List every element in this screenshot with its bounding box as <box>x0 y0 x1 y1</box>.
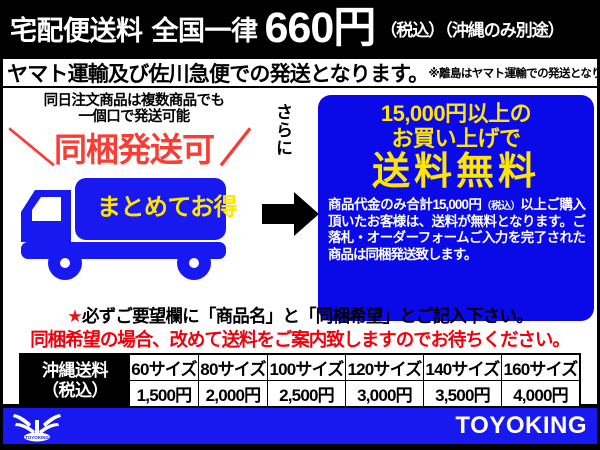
header-main-text: 宅配便送料 <box>10 9 143 48</box>
free-shipping-headline: 送料無料 <box>318 153 594 193</box>
truck-illustration: まとめてお得 <box>9 164 261 284</box>
price-cell-60: 1,500円 <box>130 381 199 408</box>
body-prefix: 商品代金のみ合計15,000円 <box>328 197 482 212</box>
price-cell-140: 3,500円 <box>423 381 501 408</box>
table-head-line2: （税込） <box>21 381 129 401</box>
brand-logo: TOYOKING <box>10 410 64 442</box>
carrier-main-text: ヤマト運輸及び佐川急便での発送となります。 <box>7 58 428 88</box>
truck-icon <box>9 164 261 284</box>
price-cell-100: 2,500円 <box>268 381 346 408</box>
right-arrow-icon <box>262 191 320 237</box>
bundle-note: 同梱希望の場合、改めて送料をご案内致しますのでお待ちください。 <box>3 326 597 352</box>
request-note: ★必ずご要望欄に「商品名」と「同梱希望」とご記入下さい。 <box>3 303 597 328</box>
bundle-head-line2: 一個口で発送可能 <box>3 110 265 126</box>
carrier-line: ヤマト運輸及び佐川急便での発送となります。 ※離島はヤマト運輸での発送となります… <box>3 59 597 88</box>
carrier-sub-text: ※離島はヤマト運輸での発送となります。 <box>428 65 600 81</box>
free-shipping-panel: 15,000円以上の お買い上げで 送料無料 商品代金のみ合計15,000円（税… <box>318 95 594 321</box>
right-arrow <box>262 191 320 237</box>
free-shipping-body: 商品代金のみ合計15,000円（税込）以上ご購入頂いたお客様は、送料が無料となり… <box>318 193 594 263</box>
header-bar: 宅配便送料 全国一律 660円 （税込）（沖縄のみ別途） <box>0 0 600 56</box>
price-cell-80: 2,000円 <box>199 381 268 408</box>
sarani-label: さらに <box>265 103 291 157</box>
size-cell-100: 100サイズ <box>268 354 346 381</box>
header-region-text: 全国一律 <box>152 9 258 48</box>
panel-headline-line1: 15,000円以上の <box>318 102 594 127</box>
table-head-cell: 沖縄送料 （税込） <box>20 354 130 407</box>
bundle-head-line1: 同日注文商品は複数商品でも <box>3 94 265 110</box>
bundle-head: 同日注文商品は複数商品でも 一個口で発送可能 <box>3 92 265 125</box>
footer-bar: TOYOKING TOYOKING <box>3 408 597 444</box>
svg-text:TOYOKING: TOYOKING <box>25 435 49 440</box>
bundle-section: 同日注文商品は複数商品でも 一個口で発送可能 ＼ 同梱発送可 ／ <box>3 92 265 322</box>
shipping-info-banner: 宅配便送料 全国一律 660円 （税込）（沖縄のみ別途） ヤマト運輸及び佐川急便… <box>0 0 600 450</box>
header-tax-note: （税込）（沖縄のみ別途） <box>380 16 564 41</box>
brand-name: TOYOKING <box>455 412 587 440</box>
truck-label: まとめてお得 <box>87 196 247 220</box>
panel-headline-line2: お買い上げで <box>318 127 594 152</box>
okinawa-fee-table: 沖縄送料 （税込） 60サイズ 80サイズ 100サイズ 120サイズ 140サ… <box>19 353 581 408</box>
bundle-headline: 同梱発送可 <box>54 133 214 166</box>
price-cell-160: 4,000円 <box>501 381 580 408</box>
size-cell-80: 80サイズ <box>199 354 268 381</box>
toyoking-logo-icon: TOYOKING <box>10 410 64 442</box>
table-head-line1: 沖縄送料 <box>21 361 129 381</box>
header-price: 660円 <box>265 7 376 50</box>
request-note-text: 必ずご要望欄に「商品名」と「同梱希望」とご記入下さい。 <box>82 306 533 326</box>
size-cell-60: 60サイズ <box>130 354 199 381</box>
size-cell-120: 120サイズ <box>345 354 423 381</box>
panel-headline: 15,000円以上の お買い上げで <box>318 95 594 151</box>
size-cell-160: 160サイズ <box>501 354 580 381</box>
price-cell-120: 3,000円 <box>345 381 423 408</box>
size-cell-140: 140サイズ <box>423 354 501 381</box>
star-icon: ★ <box>67 306 82 326</box>
table-row-sizes: 沖縄送料 （税込） 60サイズ 80サイズ 100サイズ 120サイズ 140サ… <box>20 354 580 381</box>
body-tax: （税込） <box>482 201 521 212</box>
content-sheet: ヤマト運輸及び佐川急便での発送となります。 ※離島はヤマト運輸での発送となります… <box>3 59 597 404</box>
